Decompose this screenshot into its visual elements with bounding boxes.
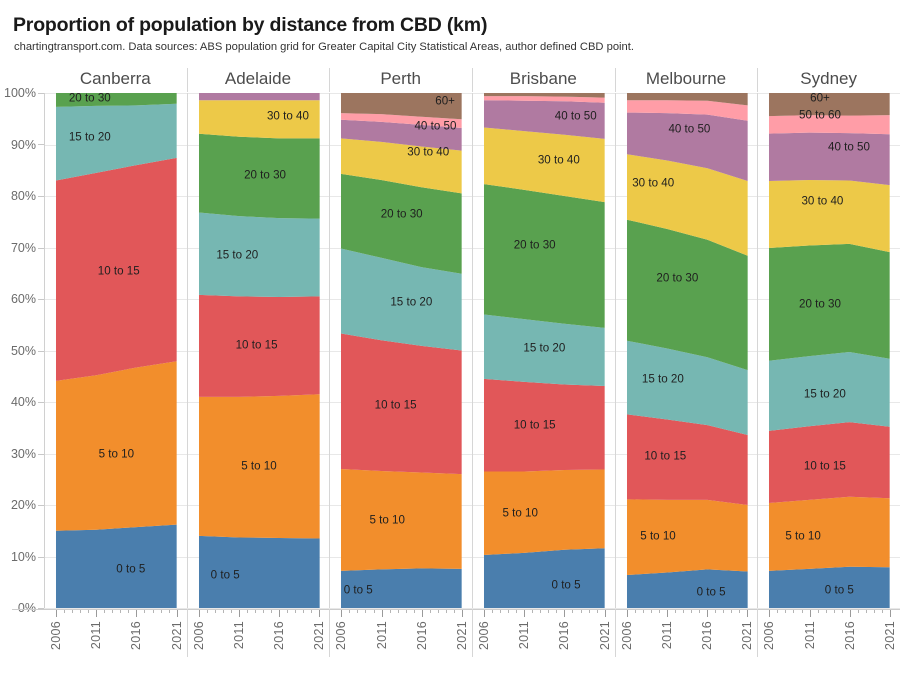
- area-band-20-to-30[interactable]: [769, 244, 890, 361]
- area-band-5-to-10[interactable]: [341, 469, 462, 571]
- x-tick-label-2006: 2006: [620, 621, 634, 650]
- x-axis-panel-adelaide: 2006201120162021: [187, 610, 330, 700]
- x-tick-major-2021: [319, 610, 320, 617]
- x-tick-label-2011: 2011: [517, 621, 531, 649]
- panel-canvas: [187, 93, 330, 608]
- panel-canvas: [329, 93, 472, 608]
- x-tick-label-2021: 2021: [455, 621, 469, 650]
- x-tick-minor-2010: [374, 610, 375, 613]
- x-tick-minor-2007: [777, 610, 778, 613]
- x-tick-label-2016: 2016: [700, 621, 714, 650]
- x-tick-minor-2013: [826, 610, 827, 613]
- x-tick-minor-2015: [699, 610, 700, 613]
- x-tick-minor-2020: [597, 610, 598, 613]
- x-tick-minor-2020: [169, 610, 170, 613]
- panel-separator-4: [615, 93, 616, 608]
- x-tick-minor-2009: [223, 610, 224, 613]
- x-tick-label-2011: 2011: [375, 621, 389, 649]
- area-band-40-to-50[interactable]: [769, 133, 890, 186]
- y-tick-label-40: 40%: [11, 395, 36, 409]
- area-band-5-to-10[interactable]: [56, 361, 177, 530]
- x-tick-minor-2018: [581, 610, 582, 613]
- x-tick-minor-2020: [739, 610, 740, 613]
- x-tick-minor-2012: [675, 610, 676, 613]
- area-band-15-to-20[interactable]: [769, 352, 890, 431]
- x-tick-major-2016: [850, 610, 851, 617]
- x-tick-major-2006: [341, 610, 342, 617]
- panel-canvas: [44, 93, 187, 608]
- x-tick-label-2006: 2006: [192, 621, 206, 650]
- y-axis: 0%10%20%30%40%50%60%70%80%90%100%: [0, 93, 44, 608]
- panel-separator-3: [472, 93, 473, 608]
- area-band-0-to-5[interactable]: [484, 548, 605, 608]
- x-axis-panel-brisbane: 2006201120162021: [472, 610, 615, 700]
- x-tick-major-2011: [239, 610, 240, 617]
- x-tick-major-2006: [627, 610, 628, 617]
- area-band-5-to-10[interactable]: [484, 469, 605, 554]
- x-tick-minor-2008: [785, 610, 786, 613]
- x-tick-minor-2010: [802, 610, 803, 613]
- panel-melbourne[interactable]: 0 to 55 to 1010 to 1515 to 2020 to 3030 …: [615, 93, 758, 608]
- x-tick-label-2021: 2021: [170, 621, 184, 650]
- x-tick-minor-2008: [215, 610, 216, 613]
- x-tick-minor-2014: [263, 610, 264, 613]
- x-tick-minor-2013: [683, 610, 684, 613]
- area-band-5-to-10[interactable]: [199, 394, 320, 538]
- area-stack-perth: [329, 93, 472, 608]
- x-tick-major-2016: [564, 610, 565, 617]
- x-tick-minor-2015: [128, 610, 129, 613]
- x-tick-minor-2012: [104, 610, 105, 613]
- area-stack-canberra: [44, 93, 187, 608]
- y-tick-label-70: 70%: [11, 241, 36, 255]
- x-axis-panel-perth: 2006201120162021: [329, 610, 472, 700]
- x-tick-minor-2007: [207, 610, 208, 613]
- x-tick-minor-2014: [691, 610, 692, 613]
- area-band-0-to-5[interactable]: [769, 567, 890, 608]
- x-tick-major-2011: [667, 610, 668, 617]
- x-axis-separator-2: [329, 609, 330, 657]
- x-tick-minor-2012: [818, 610, 819, 613]
- chart-root: Proportion of population by distance fro…: [0, 0, 900, 700]
- panel-title-melbourne: Melbourne: [615, 68, 758, 92]
- x-tick-minor-2010: [88, 610, 89, 613]
- x-tick-major-2021: [747, 610, 748, 617]
- x-tick-major-2006: [199, 610, 200, 617]
- area-band-10-to-15[interactable]: [199, 295, 320, 397]
- panel-canvas: [472, 93, 615, 608]
- area-band-5-to-10[interactable]: [627, 499, 748, 575]
- x-tick-minor-2019: [446, 610, 447, 613]
- x-axis-separator-1: [187, 609, 188, 657]
- x-tick-minor-2020: [454, 610, 455, 613]
- area-band-30-to-40[interactable]: [769, 180, 890, 252]
- x-tick-minor-2018: [295, 610, 296, 613]
- y-tick-label-100: 100%: [4, 86, 36, 100]
- page-title: Proportion of population by distance fro…: [13, 14, 487, 37]
- x-tick-label-2016: 2016: [843, 621, 857, 650]
- x-tick-label-2011: 2011: [89, 621, 103, 649]
- x-tick-minor-2009: [365, 610, 366, 613]
- x-tick-major-2006: [769, 610, 770, 617]
- x-tick-minor-2007: [492, 610, 493, 613]
- x-axis-panel-canberra: 2006201120162021: [44, 610, 187, 700]
- x-tick-major-2006: [484, 610, 485, 617]
- area-stack-adelaide: [187, 93, 330, 608]
- panel-canberra[interactable]: 0 to 55 to 1010 to 1515 to 2020 to 30: [44, 93, 187, 608]
- area-band-0-to-5[interactable]: [341, 568, 462, 608]
- x-tick-minor-2015: [414, 610, 415, 613]
- x-tick-major-2011: [810, 610, 811, 617]
- x-tick-minor-2015: [271, 610, 272, 613]
- x-tick-label-2011: 2011: [803, 621, 817, 649]
- area-stack-brisbane: [472, 93, 615, 608]
- x-tick-major-2021: [177, 610, 178, 617]
- x-tick-minor-2009: [651, 610, 652, 613]
- x-tick-minor-2014: [406, 610, 407, 613]
- y-tick-label-60: 60%: [11, 292, 36, 306]
- x-axis-separator-3: [472, 609, 473, 657]
- x-tick-minor-2018: [866, 610, 867, 613]
- x-tick-minor-2014: [548, 610, 549, 613]
- y-tick-label-90: 90%: [11, 138, 36, 152]
- panel-title-perth: Perth: [329, 68, 472, 92]
- x-tick-minor-2018: [438, 610, 439, 613]
- x-axis-panel-melbourne: 2006201120162021: [615, 610, 758, 700]
- x-tick-minor-2019: [589, 610, 590, 613]
- x-tick-major-2016: [279, 610, 280, 617]
- x-tick-label-2006: 2006: [49, 621, 63, 650]
- x-tick-label-2016: 2016: [557, 621, 571, 650]
- x-tick-minor-2020: [882, 610, 883, 613]
- x-tick-minor-2019: [731, 610, 732, 613]
- x-tick-minor-2010: [516, 610, 517, 613]
- area-band-5-to-10[interactable]: [769, 497, 890, 571]
- panel-title-sydney: Sydney: [757, 68, 900, 92]
- x-tick-label-2016: 2016: [272, 621, 286, 650]
- area-band-10-to-15[interactable]: [769, 422, 890, 503]
- panel-perth[interactable]: 0 to 55 to 1010 to 1515 to 2020 to 3030 …: [329, 93, 472, 608]
- y-tick-label-0: 0%: [18, 601, 36, 615]
- x-tick-minor-2014: [834, 610, 835, 613]
- x-tick-minor-2014: [120, 610, 121, 613]
- y-tick-label-30: 30%: [11, 447, 36, 461]
- area-stack-sydney: [757, 93, 900, 608]
- x-tick-minor-2013: [398, 610, 399, 613]
- x-axis-separator-4: [615, 609, 616, 657]
- panel-header-separator-2: [329, 68, 330, 92]
- y-tick-label-10: 10%: [11, 550, 36, 564]
- x-tick-label-2006: 2006: [762, 621, 776, 650]
- x-tick-minor-2017: [287, 610, 288, 613]
- x-tick-minor-2020: [311, 610, 312, 613]
- x-tick-minor-2008: [72, 610, 73, 613]
- x-tick-minor-2012: [390, 610, 391, 613]
- x-tick-major-2021: [890, 610, 891, 617]
- x-tick-minor-2009: [80, 610, 81, 613]
- x-tick-label-2006: 2006: [477, 621, 491, 650]
- x-tick-minor-2019: [874, 610, 875, 613]
- panel-title-brisbane: Brisbane: [472, 68, 615, 92]
- x-axis-separator-5: [757, 609, 758, 657]
- panel-canvas: [615, 93, 758, 608]
- x-tick-label-2016: 2016: [415, 621, 429, 650]
- x-tick-minor-2013: [255, 610, 256, 613]
- area-band-0-to-5[interactable]: [56, 525, 177, 608]
- x-tick-minor-2018: [153, 610, 154, 613]
- x-tick-minor-2019: [303, 610, 304, 613]
- x-tick-label-2021: 2021: [598, 621, 612, 650]
- x-tick-label-2021: 2021: [312, 621, 326, 650]
- area-band-15-to-20[interactable]: [199, 212, 320, 296]
- x-tick-minor-2015: [842, 610, 843, 613]
- x-axis-panel-sydney: 2006201120162021: [757, 610, 900, 700]
- x-tick-minor-2019: [161, 610, 162, 613]
- x-tick-label-2006: 2006: [334, 621, 348, 650]
- area-band-50-to-60[interactable]: [769, 115, 890, 134]
- area-stack-melbourne: [615, 93, 758, 608]
- panel-header-separator-1: [187, 68, 188, 92]
- x-tick-major-2016: [422, 610, 423, 617]
- panel-separator-2: [329, 93, 330, 608]
- panel-adelaide[interactable]: 0 to 55 to 1010 to 1515 to 2020 to 3030 …: [187, 93, 330, 608]
- x-tick-major-2011: [382, 610, 383, 617]
- y-tick-label-20: 20%: [11, 498, 36, 512]
- panel-title-adelaide: Adelaide: [187, 68, 330, 92]
- y-tick-label-50: 50%: [11, 344, 36, 358]
- panel-separator-1: [187, 93, 188, 608]
- x-tick-major-2021: [462, 610, 463, 617]
- x-tick-minor-2007: [64, 610, 65, 613]
- x-tick-minor-2012: [532, 610, 533, 613]
- area-band-40-to-50[interactable]: [199, 93, 320, 100]
- panel-separator-5: [757, 93, 758, 608]
- area-band-20-to-30[interactable]: [484, 184, 605, 328]
- panel-sydney[interactable]: 0 to 55 to 1010 to 1515 to 2020 to 3030 …: [757, 93, 900, 608]
- x-tick-label-2021: 2021: [883, 621, 897, 650]
- x-tick-minor-2017: [715, 610, 716, 613]
- x-tick-major-2016: [136, 610, 137, 617]
- panel-header-separator-3: [472, 68, 473, 92]
- x-tick-minor-2007: [349, 610, 350, 613]
- x-tick-major-2016: [707, 610, 708, 617]
- panel-title-canberra: Canberra: [44, 68, 187, 92]
- x-tick-major-2011: [524, 610, 525, 617]
- x-tick-major-2006: [56, 610, 57, 617]
- x-tick-label-2011: 2011: [232, 621, 246, 649]
- x-tick-minor-2017: [858, 610, 859, 613]
- x-tick-minor-2013: [540, 610, 541, 613]
- x-tick-label-2011: 2011: [660, 621, 674, 649]
- area-band-0-to-5[interactable]: [199, 536, 320, 608]
- x-tick-minor-2010: [659, 610, 660, 613]
- x-tick-major-2011: [96, 610, 97, 617]
- panel-canvas: [757, 93, 900, 608]
- x-tick-minor-2009: [793, 610, 794, 613]
- x-tick-label-2021: 2021: [740, 621, 754, 650]
- x-tick-minor-2009: [508, 610, 509, 613]
- area-band-10-to-15[interactable]: [56, 158, 177, 381]
- x-tick-label-2016: 2016: [129, 621, 143, 650]
- x-tick-minor-2010: [231, 610, 232, 613]
- x-tick-minor-2008: [357, 610, 358, 613]
- area-band-10-to-15[interactable]: [484, 379, 605, 472]
- panel-brisbane[interactable]: 0 to 55 to 1010 to 1515 to 2020 to 3030 …: [472, 93, 615, 608]
- x-tick-minor-2017: [144, 610, 145, 613]
- y-tick-label-80: 80%: [11, 189, 36, 203]
- x-tick-minor-2013: [112, 610, 113, 613]
- x-tick-major-2021: [605, 610, 606, 617]
- x-tick-minor-2017: [430, 610, 431, 613]
- x-tick-minor-2018: [723, 610, 724, 613]
- x-tick-minor-2015: [556, 610, 557, 613]
- area-band-20-to-30[interactable]: [199, 134, 320, 219]
- panel-header-separator-5: [757, 68, 758, 92]
- x-tick-minor-2008: [643, 610, 644, 613]
- x-tick-minor-2012: [247, 610, 248, 613]
- chart-subtitle: chartingtransport.com. Data sources: ABS…: [14, 41, 634, 53]
- panel-header-separator-4: [615, 68, 616, 92]
- area-band-0-to-5[interactable]: [627, 569, 748, 608]
- area-band-60-[interactable]: [769, 93, 890, 116]
- x-tick-minor-2008: [500, 610, 501, 613]
- x-tick-minor-2017: [572, 610, 573, 613]
- x-tick-minor-2007: [635, 610, 636, 613]
- area-band-10-to-15[interactable]: [341, 334, 462, 475]
- area-band-30-to-40[interactable]: [199, 100, 320, 138]
